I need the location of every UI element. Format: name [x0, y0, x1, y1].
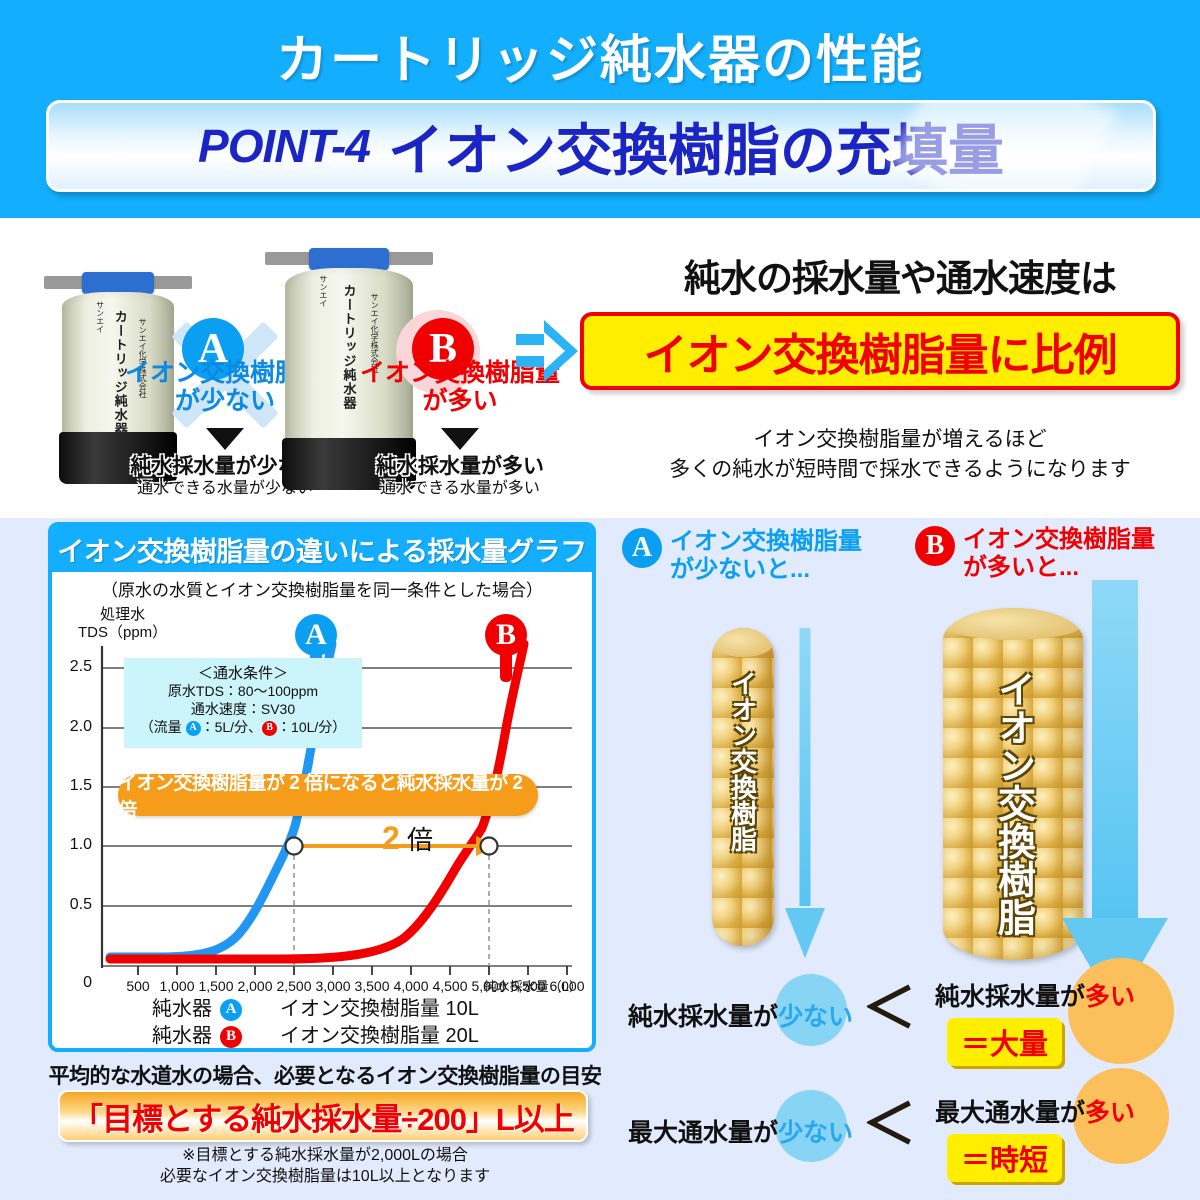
- point-heading: イオン交換樹脂の充填量: [388, 106, 1004, 187]
- tank-b-note-line2: が多い: [335, 388, 585, 416]
- tank-a-valve-head: [82, 272, 154, 294]
- chart-marker-a: A: [295, 614, 337, 656]
- right-head-a-text: イオン交換樹脂量 が少ないと...: [670, 528, 862, 584]
- water-flow-arrow-a: [785, 628, 825, 958]
- water-flow-arrow-b: [1062, 580, 1168, 1010]
- legend-a-badge: A: [220, 999, 242, 1021]
- proportional-highlight: イオン交換樹脂量に比例: [580, 312, 1180, 390]
- resin-column-a: イオン交換樹脂: [712, 628, 774, 946]
- page-title: カートリッジ純水器の性能: [0, 18, 1200, 93]
- guideline-formula-bar: 「目標とする純水採水量÷200」L以上: [58, 1090, 588, 1142]
- tank-b-inlet-fitting: [265, 252, 315, 265]
- row2-right-word: 多い: [1085, 1099, 1135, 1127]
- top-subtext-line1: イオン交換樹脂量が増えるほど: [600, 425, 1200, 455]
- right-head-a: A イオン交換樹脂量 が少ないと...: [622, 528, 862, 584]
- tank-b-result: 純水採水量が多い 通水できる水量が多い: [335, 455, 585, 498]
- doubling-annotation-pill: イオン交換樹脂量が 2 倍になると純水採水量が 2 倍: [118, 774, 538, 816]
- row1-left-prefix: 純水採水量が: [628, 1003, 778, 1031]
- tank-b-result-main: 純水採水量が多い: [335, 455, 585, 479]
- right-head-b-line2: が多いと...: [963, 554, 1155, 582]
- guideline-formula: 「目標とする純水採水量÷200」L以上: [72, 1094, 574, 1139]
- row1-right-prefix: 純水採水量が: [935, 983, 1085, 1011]
- flow-conditions-box: ＜通水条件＞ 原水TDS：80〜100ppm 通水速度：SV30 （流量 A：5…: [124, 658, 362, 748]
- comparison-row-1-operator: ＜: [862, 982, 916, 1036]
- y-tick-2_5: 2.5: [58, 658, 92, 676]
- y-tick-0: 0: [58, 974, 92, 992]
- conditions-line3-prefix: （流量: [140, 719, 186, 735]
- header-banner: カートリッジ純水器の性能 POINT-4 イオン交換樹脂の充填量: [0, 0, 1200, 218]
- legend-a-device: 純水器: [152, 996, 212, 1023]
- row1-right-word: 多い: [1085, 983, 1135, 1011]
- doubling-unit: 倍: [407, 825, 433, 855]
- comparison-row-1-tag: ＝大量: [947, 1018, 1062, 1066]
- row1-left-word: 少ない: [778, 1003, 853, 1031]
- right-head-a-line2: が少ないと...: [670, 556, 862, 584]
- right-head-b-line1: イオン交換樹脂量: [963, 526, 1155, 554]
- resin-column-a-top: [712, 628, 774, 657]
- guideline-footnote-line1: ※目標とする純水採水量が2,000Lの場合: [40, 1146, 610, 1167]
- top-subtext: イオン交換樹脂量が増えるほど 多くの純水が短時間で採水できるようになります: [600, 425, 1200, 486]
- tank-a-brand-small: サンエイ: [95, 301, 106, 333]
- chart-panel: イオン交換樹脂量の違いによる採水量グラフ （原水の水質とイオン交換樹脂量を同一条…: [48, 522, 596, 1052]
- y-tick-2_0: 2.0: [58, 718, 92, 736]
- chart-marker-b: B: [485, 614, 527, 656]
- comparison-row-2-operator: ＜: [862, 1098, 916, 1152]
- y-tick-1_0: 1.0: [58, 836, 92, 854]
- legend-row-b: 純水器 B イオン交換樹脂量 20L: [152, 1023, 479, 1050]
- y-tick-1_5: 1.5: [58, 777, 92, 795]
- point-number-label: POINT-4: [198, 119, 370, 173]
- top-headline: 純水の採水量や通水速度は: [600, 248, 1200, 302]
- comparison-row-2-right: 最大通水量が多い: [935, 1093, 1135, 1129]
- doubling-arrow-label: 2 倍: [382, 820, 433, 857]
- comparison-row-1-left: 純水採水量が少ない: [628, 997, 853, 1033]
- conditions-heading: ＜通水条件＞: [124, 664, 362, 683]
- row2-left-prefix: 最大通水量が: [628, 1119, 778, 1147]
- conditions-badge-b: B: [262, 721, 277, 736]
- top-subtext-line2: 多くの純水が短時間で採水できるようになります: [600, 455, 1200, 485]
- conditions-line2: 通水速度：SV30: [124, 701, 362, 719]
- conditions-line3: （流量 A：5L/分、B：10L/分）: [124, 719, 362, 737]
- x-axis-title: 純水採水量（L）: [484, 976, 582, 995]
- guideline-footnote-line2: 必要なイオン交換樹脂量は10L以上となります: [40, 1167, 610, 1188]
- proportional-highlight-text: イオン交換樹脂量に比例: [644, 319, 1117, 383]
- y-tick-0_5: 0.5: [58, 896, 92, 914]
- resin-column-b-label: イオン交換樹脂: [986, 670, 1041, 936]
- comparison-row-2-tag: ＝時短: [947, 1134, 1062, 1182]
- chart-legend: 純水器 A イオン交換樹脂量 10L 純水器 B イオン交換樹脂量 20L: [152, 996, 479, 1050]
- legend-b-device: 純水器: [152, 1023, 212, 1050]
- right-head-b-text: イオン交換樹脂量 が多いと...: [963, 526, 1155, 582]
- conditions-badge-a: A: [186, 721, 201, 736]
- conditions-line1: 原水TDS：80〜100ppm: [124, 683, 362, 701]
- right-head-a-line1: イオン交換樹脂量: [670, 528, 862, 556]
- tank-b-body: サンエイ カートリッジ純水器 サンエイ化学株式会社: [285, 268, 413, 444]
- doubling-annotation-text: イオン交換樹脂量が 2 倍になると純水採水量が 2 倍: [118, 768, 538, 822]
- tank-b-brand-small: サンエイ: [318, 275, 329, 307]
- legend-b-text: イオン交換樹脂量 20L: [280, 1023, 479, 1050]
- row2-right-prefix: 最大通水量が: [935, 1099, 1085, 1127]
- point-banner: POINT-4 イオン交換樹脂の充填量: [46, 100, 1156, 192]
- right-arrow-icon: [516, 320, 582, 382]
- tank-b-valve-head: [309, 248, 389, 270]
- tank-b-arrow-icon: [441, 428, 479, 450]
- right-head-b: B イオン交換樹脂量 が多いと...: [915, 526, 1155, 582]
- conditions-line3-mid: ：5L/分、: [201, 719, 262, 735]
- right-head-b-badge: B: [915, 526, 955, 566]
- doubling-number: 2: [382, 820, 400, 856]
- comparison-row-1-right: 純水採水量が多い: [935, 977, 1135, 1013]
- legend-a-text: イオン交換樹脂量 10L: [280, 996, 479, 1023]
- resin-column-a-label: イオン交換樹脂: [725, 670, 762, 852]
- tank-a-arrow-icon: [206, 428, 244, 450]
- legend-b-badge: B: [220, 1026, 242, 1048]
- legend-row-a: 純水器 A イオン交換樹脂量 10L: [152, 996, 479, 1023]
- conditions-line3-suffix: ：10L/分）: [277, 719, 346, 735]
- tank-b-result-sub: 通水できる水量が多い: [335, 479, 585, 498]
- guideline-footnote: ※目標とする純水採水量が2,000Lの場合 必要なイオン交換樹脂量は10L以上と…: [40, 1146, 610, 1188]
- tank-b-outlet-fitting: [383, 252, 433, 265]
- right-head-a-badge: A: [622, 528, 662, 568]
- comparison-row-2-left: 最大通水量が少ない: [628, 1113, 853, 1149]
- row2-left-word: 少ない: [778, 1119, 853, 1147]
